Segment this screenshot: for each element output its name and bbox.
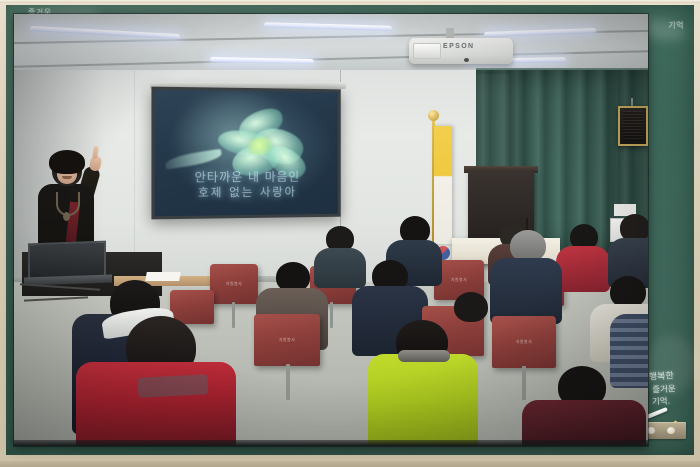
korean-flag bbox=[434, 126, 452, 244]
audience-torso bbox=[490, 258, 562, 324]
chair-leg bbox=[522, 366, 526, 400]
audience-torso bbox=[314, 248, 366, 288]
paper-sheet bbox=[145, 272, 181, 281]
wall-speaker bbox=[618, 106, 648, 146]
audience-torso-green bbox=[368, 354, 478, 446]
chair-label: 자원봉사 bbox=[516, 339, 532, 345]
slide-text-line-1: 안타까운 내 마음인 bbox=[155, 169, 338, 186]
audience-torso-red bbox=[76, 362, 236, 446]
projector-lens-icon bbox=[413, 43, 441, 59]
audience-torso-striped bbox=[610, 314, 648, 388]
chair: 자원봉사 bbox=[254, 314, 320, 366]
slide-text: 안타까운 내 마음인 호제 없는 사랑아 bbox=[155, 169, 338, 202]
presenter-smile bbox=[62, 176, 72, 179]
ceiling-fixture bbox=[464, 58, 469, 62]
flag-finial bbox=[428, 110, 439, 121]
ceiling-projector: EPSON bbox=[409, 38, 513, 64]
projected-slide: 안타까운 내 마음인 호제 없는 사랑아 bbox=[155, 90, 338, 217]
slide-text-line-2: 호제 없는 사랑아 bbox=[155, 185, 338, 202]
screenshot-root: 즐거운 기억 행복한 즐거운 기억. bbox=[0, 0, 700, 467]
chair-label: 자원봉사 bbox=[226, 281, 242, 287]
chair-leg bbox=[330, 302, 333, 328]
chair-label: 자원봉사 bbox=[279, 337, 295, 343]
projection-screen: 안타까운 내 마음인 호제 없는 사랑아 bbox=[151, 87, 340, 220]
chair-leg bbox=[232, 302, 235, 328]
photograph: EPSON bbox=[14, 14, 648, 446]
photo-bottom-edge bbox=[14, 440, 648, 446]
presenter-hair bbox=[49, 150, 85, 174]
chair-label: 자원봉사 bbox=[451, 277, 467, 283]
tray-hole bbox=[667, 427, 675, 434]
chalk-scribble-top-right: 기억 bbox=[668, 21, 684, 30]
speaker-grill bbox=[623, 111, 643, 141]
audience-torso bbox=[556, 246, 610, 292]
audience-head bbox=[454, 292, 488, 322]
projector-brand-label: EPSON bbox=[443, 43, 475, 50]
chair: 자원봉사 bbox=[492, 316, 556, 368]
jacket-stripe bbox=[138, 374, 209, 398]
tray-hole bbox=[647, 427, 655, 434]
chair: 자원봉사 bbox=[210, 264, 258, 304]
scarf bbox=[398, 350, 450, 362]
chair-leg bbox=[286, 364, 290, 400]
presenter-pendant bbox=[63, 212, 70, 221]
